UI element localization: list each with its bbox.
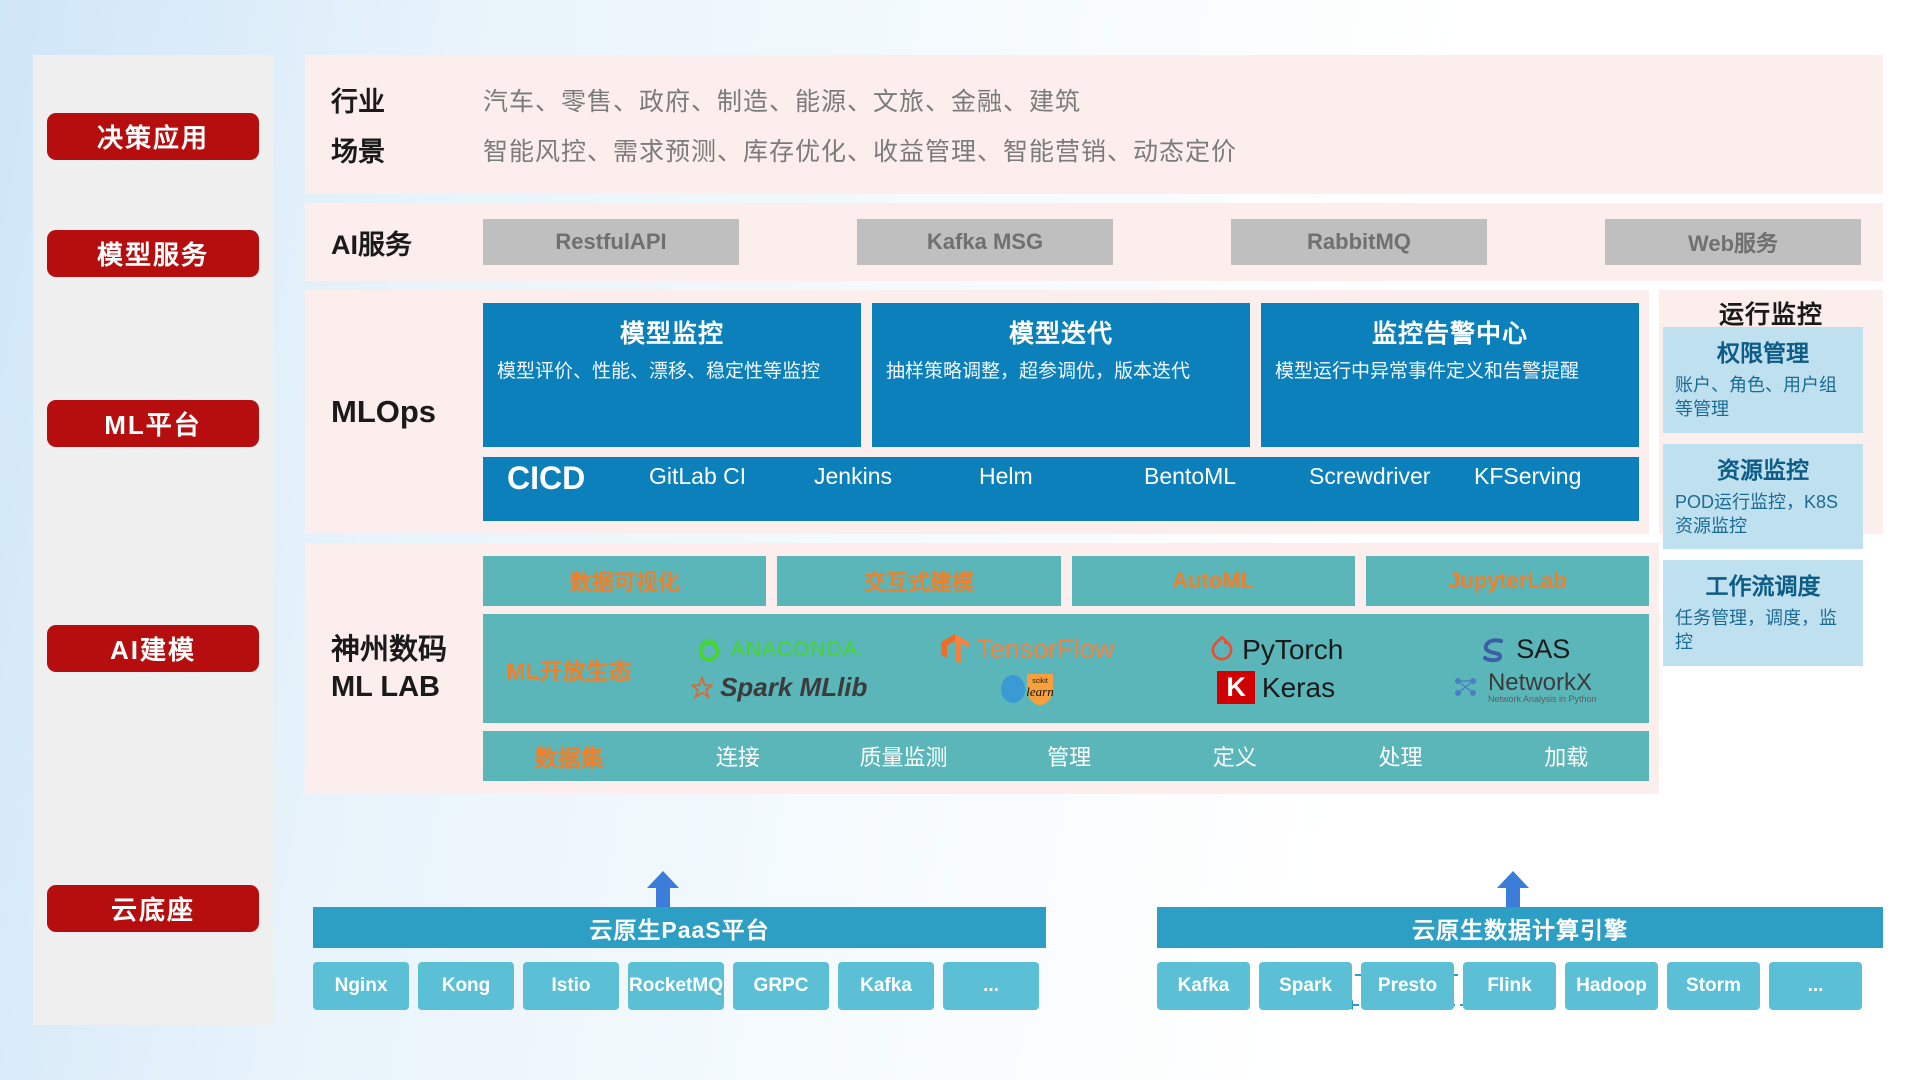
cicd-label: CICD bbox=[507, 457, 649, 500]
pytorch-logo-text: PyTorch bbox=[1242, 634, 1343, 666]
chip-kafka-engine[interactable]: Kafka bbox=[1157, 962, 1250, 1010]
industry-value: 汽车、零售、政府、制造、能源、文旅、金融、建筑 bbox=[483, 82, 1081, 118]
card-desc: 模型运行中异常事件定义和告警提醒 bbox=[1275, 359, 1625, 385]
engine-chip-group: Kafka Spark Presto Flink Hadoop Storm ..… bbox=[1157, 962, 1862, 1010]
tool-interactive-modeling[interactable]: 交互式建模 bbox=[777, 556, 1060, 606]
scenario-label: 场景 bbox=[331, 130, 483, 169]
networkx-logo: NetworkX Network Analysis in Python bbox=[1401, 670, 1650, 705]
monitoring-card-column: 权限管理 账户、角色、用户组等管理 资源监控 POD运行监控，K8S资源监控 工… bbox=[1663, 327, 1863, 677]
keras-mark: K bbox=[1217, 671, 1255, 704]
ml-lab-label-line2: ML LAB bbox=[331, 671, 440, 703]
cicd-item-jenkins[interactable]: Jenkins bbox=[814, 457, 979, 492]
monitoring-card-resources[interactable]: 资源监控 POD运行监控，K8S资源监控 bbox=[1663, 444, 1863, 550]
chip-more-left[interactable]: ... bbox=[943, 962, 1039, 1010]
pytorch-logo: PyTorch bbox=[1152, 634, 1401, 666]
chip-hadoop[interactable]: Hadoop bbox=[1565, 962, 1658, 1010]
cloud-foundation-section: 云原生PaaS平台 云原生数据计算引擎 Nginx Kong Istio Roc… bbox=[305, 885, 1883, 1035]
chip-presto[interactable]: Presto bbox=[1361, 962, 1454, 1010]
mlops-card-model-iteration[interactable]: 模型迭代 抽样策略调整，超参调优，版本迭代 bbox=[872, 303, 1250, 447]
cicd-item-gitlab-ci[interactable]: GitLab CI bbox=[649, 457, 814, 492]
card-title: 资源监控 bbox=[1675, 451, 1851, 485]
architecture-diagram: 决策应用 模型服务 ML平台 AI建模 云底座 行业 汽车、零售、政府、制造、能… bbox=[0, 0, 1920, 1080]
monitoring-card-permissions[interactable]: 权限管理 账户、角色、用户组等管理 bbox=[1663, 327, 1863, 433]
cicd-item-screwdriver[interactable]: Screwdriver bbox=[1309, 457, 1474, 492]
ai-service-pill-kafka-msg[interactable]: Kafka MSG bbox=[857, 219, 1113, 265]
sas-logo: SAS bbox=[1401, 634, 1650, 665]
rail-item-model-service[interactable]: 模型服务 bbox=[47, 230, 259, 277]
spark-logo-text: Spark MLlib bbox=[720, 672, 867, 703]
paas-chip-group: Nginx Kong Istio RocketMQ GRPC Kafka ... bbox=[313, 962, 1039, 1010]
card-title: 模型迭代 bbox=[886, 314, 1236, 350]
ml-ecosystem-label: ML开放生态 bbox=[483, 652, 655, 686]
tensorflow-logo: TensorFlow bbox=[904, 634, 1153, 666]
cicd-bar: CICD GitLab CI Jenkins Helm BentoML Scre… bbox=[483, 457, 1639, 521]
ai-service-pill-web-service[interactable]: Web服务 bbox=[1605, 219, 1861, 265]
ai-service-pill-rabbitmq[interactable]: RabbitMQ bbox=[1231, 219, 1487, 265]
cicd-item-group: GitLab CI Jenkins Helm BentoML Screwdriv… bbox=[649, 457, 1639, 492]
dataset-bar: 数据集 连接 质量监测 管理 定义 处理 加载 bbox=[483, 731, 1649, 781]
card-desc: 抽样策略调整，超参调优，版本迭代 bbox=[886, 359, 1236, 385]
dataset-item-connect[interactable]: 连接 bbox=[655, 740, 821, 772]
chip-storm[interactable]: Storm bbox=[1667, 962, 1760, 1010]
ml-ecosystem-logo-grid: ANACONDA. TensorFlow bbox=[655, 631, 1649, 707]
main-column: 行业 汽车、零售、政府、制造、能源、文旅、金融、建筑 场景 智能风控、需求预测、… bbox=[305, 55, 1883, 794]
chip-kafka[interactable]: Kafka bbox=[838, 962, 934, 1010]
mlops-card-alert-center[interactable]: 监控告警中心 模型运行中异常事件定义和告警提醒 bbox=[1261, 303, 1639, 447]
mlops-card-group: 模型监控 模型评价、性能、漂移、稳定性等监控 模型迭代 抽样策略调整，超参调优，… bbox=[483, 303, 1639, 447]
ai-service-pill-group: RestfulAPI Kafka MSG RabbitMQ Web服务 bbox=[483, 219, 1883, 265]
ml-lab-section: 神州数码 ML LAB 数据可视化 交互式建模 AutoML JupyterLa… bbox=[305, 543, 1659, 794]
chip-more-right[interactable]: ... bbox=[1769, 962, 1862, 1010]
dataset-item-manage[interactable]: 管理 bbox=[986, 740, 1152, 772]
spark-mllib-logo: Spark MLlib bbox=[655, 672, 904, 703]
ai-service-pill-restfulapi[interactable]: RestfulAPI bbox=[483, 219, 739, 265]
keras-logo: K Keras bbox=[1152, 671, 1401, 704]
svg-text:learn: learn bbox=[1026, 684, 1053, 699]
dataset-label: 数据集 bbox=[483, 739, 655, 773]
monitoring-card-workflow[interactable]: 工作流调度 任务管理，调度，监控 bbox=[1663, 560, 1863, 666]
ai-service-label: AI服务 bbox=[331, 223, 483, 262]
chip-nginx[interactable]: Nginx bbox=[313, 962, 409, 1010]
ai-modeling-band: 神州数码 ML LAB 数据可视化 交互式建模 AutoML JupyterLa… bbox=[305, 543, 1883, 794]
chip-kong[interactable]: Kong bbox=[418, 962, 514, 1010]
ml-lab-body: 数据可视化 交互式建模 AutoML JupyterLab ML开放生态 bbox=[483, 556, 1659, 781]
anaconda-logo: ANACONDA. bbox=[655, 635, 904, 665]
ml-lab-label-line1: 神州数码 bbox=[331, 634, 447, 666]
card-title: 权限管理 bbox=[1675, 334, 1851, 368]
networkx-logo-subtext: Network Analysis in Python bbox=[1488, 695, 1597, 704]
rail-item-decision-apps[interactable]: 决策应用 bbox=[47, 113, 259, 160]
mlops-card-model-monitoring[interactable]: 模型监控 模型评价、性能、漂移、稳定性等监控 bbox=[483, 303, 861, 447]
card-desc: 模型评价、性能、漂移、稳定性等监控 bbox=[497, 359, 847, 385]
keras-logo-text: Keras bbox=[1262, 672, 1335, 704]
rail-item-ai-modeling[interactable]: AI建模 bbox=[47, 625, 259, 672]
tensorflow-logo-text: TensorFlow bbox=[976, 634, 1114, 665]
tool-data-visualization[interactable]: 数据可视化 bbox=[483, 556, 766, 606]
mlops-label: MLOps bbox=[331, 303, 483, 521]
card-title: 监控告警中心 bbox=[1275, 314, 1625, 350]
cicd-item-bentoml[interactable]: BentoML bbox=[1144, 457, 1309, 492]
tool-automl[interactable]: AutoML bbox=[1072, 556, 1355, 606]
dataset-item-define[interactable]: 定义 bbox=[1152, 740, 1318, 772]
card-desc: POD运行监控，K8S资源监控 bbox=[1675, 490, 1851, 539]
cicd-item-helm[interactable]: Helm bbox=[979, 457, 1144, 492]
cicd-item-kfserving[interactable]: KFServing bbox=[1474, 457, 1639, 492]
card-title: 模型监控 bbox=[497, 314, 847, 350]
ai-service-band: AI服务 RestfulAPI Kafka MSG RabbitMQ Web服务 bbox=[305, 203, 1883, 281]
cloud-bar-engine[interactable]: 云原生数据计算引擎 bbox=[1157, 907, 1883, 948]
dataset-item-quality[interactable]: 质量监测 bbox=[821, 740, 987, 772]
card-title: 工作流调度 bbox=[1675, 567, 1851, 601]
layer-rail: 决策应用 模型服务 ML平台 AI建模 云底座 bbox=[33, 55, 274, 1025]
dataset-item-load[interactable]: 加载 bbox=[1483, 740, 1649, 772]
chip-rocketmq[interactable]: RocketMQ bbox=[628, 962, 724, 1010]
ml-ecosystem-panel: ML开放生态 ANACONDA. bbox=[483, 614, 1649, 723]
ml-lab-label: 神州数码 ML LAB bbox=[331, 556, 483, 781]
networkx-logo-text: NetworkX bbox=[1488, 670, 1597, 695]
mlops-body: 模型监控 模型评价、性能、漂移、稳定性等监控 模型迭代 抽样策略调整，超参调优，… bbox=[483, 303, 1649, 521]
sas-logo-text: SAS bbox=[1516, 634, 1570, 665]
chip-flink[interactable]: Flink bbox=[1463, 962, 1556, 1010]
rail-item-cloud-base[interactable]: 云底座 bbox=[47, 885, 259, 932]
ml-platform-band: MLOps 模型监控 模型评价、性能、漂移、稳定性等监控 模型迭代 抽样策略调整… bbox=[305, 290, 1883, 534]
chip-grpc[interactable]: GRPC bbox=[733, 962, 829, 1010]
rail-item-ml-platform[interactable]: ML平台 bbox=[47, 400, 259, 447]
anaconda-logo-text: ANACONDA. bbox=[731, 638, 865, 662]
tool-jupyterlab[interactable]: JupyterLab bbox=[1366, 556, 1649, 606]
chip-istio[interactable]: Istio bbox=[523, 962, 619, 1010]
mlops-section: MLOps 模型监控 模型评价、性能、漂移、稳定性等监控 模型迭代 抽样策略调整… bbox=[305, 290, 1649, 534]
industry-row: 行业 汽车、零售、政府、制造、能源、文旅、金融、建筑 bbox=[331, 75, 1883, 125]
scenario-row: 场景 智能风控、需求预测、库存优化、收益管理、智能营销、动态定价 bbox=[331, 125, 1883, 175]
dataset-item-group: 连接 质量监测 管理 定义 处理 加载 bbox=[655, 740, 1649, 772]
card-desc: 账户、角色、用户组等管理 bbox=[1675, 373, 1851, 422]
scikit-learn-logo: scikit learn scikit learn bbox=[904, 669, 1153, 707]
tool-group: 数据可视化 交互式建模 AutoML JupyterLab bbox=[483, 556, 1649, 606]
cloud-bar-paas[interactable]: 云原生PaaS平台 bbox=[313, 907, 1046, 948]
chip-spark[interactable]: Spark bbox=[1259, 962, 1352, 1010]
industry-label: 行业 bbox=[331, 80, 483, 119]
dataset-item-process[interactable]: 处理 bbox=[1318, 740, 1484, 772]
card-desc: 任务管理，调度，监控 bbox=[1675, 606, 1851, 655]
decision-apps-band: 行业 汽车、零售、政府、制造、能源、文旅、金融、建筑 场景 智能风控、需求预测、… bbox=[305, 55, 1883, 194]
scenario-value: 智能风控、需求预测、库存优化、收益管理、智能营销、动态定价 bbox=[483, 132, 1237, 168]
